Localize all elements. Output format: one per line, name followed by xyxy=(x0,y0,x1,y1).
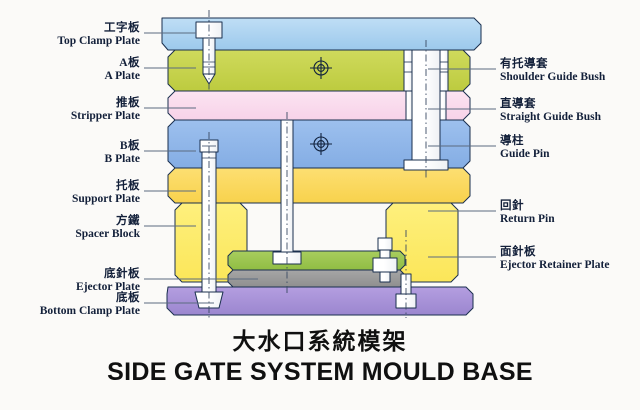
mould-base-diagram-page: 工字板 Top Clamp Plate A板 A Plate 推板 Stripp… xyxy=(0,0,640,410)
plate-ejector-plate xyxy=(228,270,405,287)
label-en: Top Clamp Plate xyxy=(0,35,140,48)
label-en: Shoulder Guide Bush xyxy=(500,71,605,84)
label-en: Guide Pin xyxy=(500,148,550,161)
label-cn: 有托導套 xyxy=(500,58,605,71)
label-en: Return Pin xyxy=(500,213,555,226)
label-cn: 面針板 xyxy=(500,246,609,259)
label-en: Bottom Clamp Plate xyxy=(0,305,140,318)
label-b-plate: B板 B Plate xyxy=(0,140,140,166)
label-cn: A板 xyxy=(0,57,140,70)
label-en: Straight Guide Bush xyxy=(500,111,601,124)
label-guide-pin: 導柱 Guide Pin xyxy=(500,135,550,161)
label-cn: B板 xyxy=(0,140,140,153)
title-en: SIDE GATE SYSTEM MOULD BASE xyxy=(0,358,640,387)
label-support-plate: 托板 Support Plate xyxy=(0,180,140,206)
label-top-clamp-plate: 工字板 Top Clamp Plate xyxy=(0,22,140,48)
label-cn: 回針 xyxy=(500,200,555,213)
shoulder-guide-bush-right xyxy=(440,50,448,91)
shoulder-guide-bush-left xyxy=(404,50,412,91)
straight-guide-bush-right xyxy=(440,91,446,120)
label-cn: 導柱 xyxy=(500,135,550,148)
label-cn: 推板 xyxy=(0,97,140,110)
straight-guide-bush-left xyxy=(406,91,412,120)
label-en: Ejector Retainer Plate xyxy=(500,259,609,272)
label-ejector-plate: 底針板 Ejector Plate xyxy=(0,268,140,294)
label-return-pin: 回針 Return Pin xyxy=(500,200,555,226)
diagram-title: 大水口系統模架 SIDE GATE SYSTEM MOULD BASE xyxy=(0,322,640,387)
label-cn: 方鐵 xyxy=(0,215,140,228)
title-cn: 大水口系統模架 xyxy=(0,322,640,356)
label-stripper-plate: 推板 Stripper Plate xyxy=(0,97,140,123)
label-en: A Plate xyxy=(0,70,140,83)
label-cn: 底針板 xyxy=(0,268,140,281)
label-a-plate: A板 A Plate xyxy=(0,57,140,83)
label-en: Support Plate xyxy=(0,193,140,206)
label-en: Stripper Plate xyxy=(0,110,140,123)
return-pin-right-foot xyxy=(373,258,397,272)
label-en: B Plate xyxy=(0,153,140,166)
label-cn: 托板 xyxy=(0,180,140,193)
label-ejector-retainer-plate: 面針板 Ejector Retainer Plate xyxy=(500,246,609,272)
label-bottom-clamp-plate: 底板 Bottom Clamp Plate xyxy=(0,292,140,318)
label-spacer-block: 方鐵 Spacer Block xyxy=(0,215,140,241)
return-pin-right-head xyxy=(378,238,392,250)
label-straight-guide-bush: 直導套 Straight Guide Bush xyxy=(500,98,601,124)
label-en: Spacer Block xyxy=(0,228,140,241)
label-cn: 直導套 xyxy=(500,98,601,111)
label-cn: 底板 xyxy=(0,292,140,305)
label-cn: 工字板 xyxy=(0,22,140,35)
label-shoulder-guide-bush: 有托導套 Shoulder Guide Bush xyxy=(500,58,605,84)
